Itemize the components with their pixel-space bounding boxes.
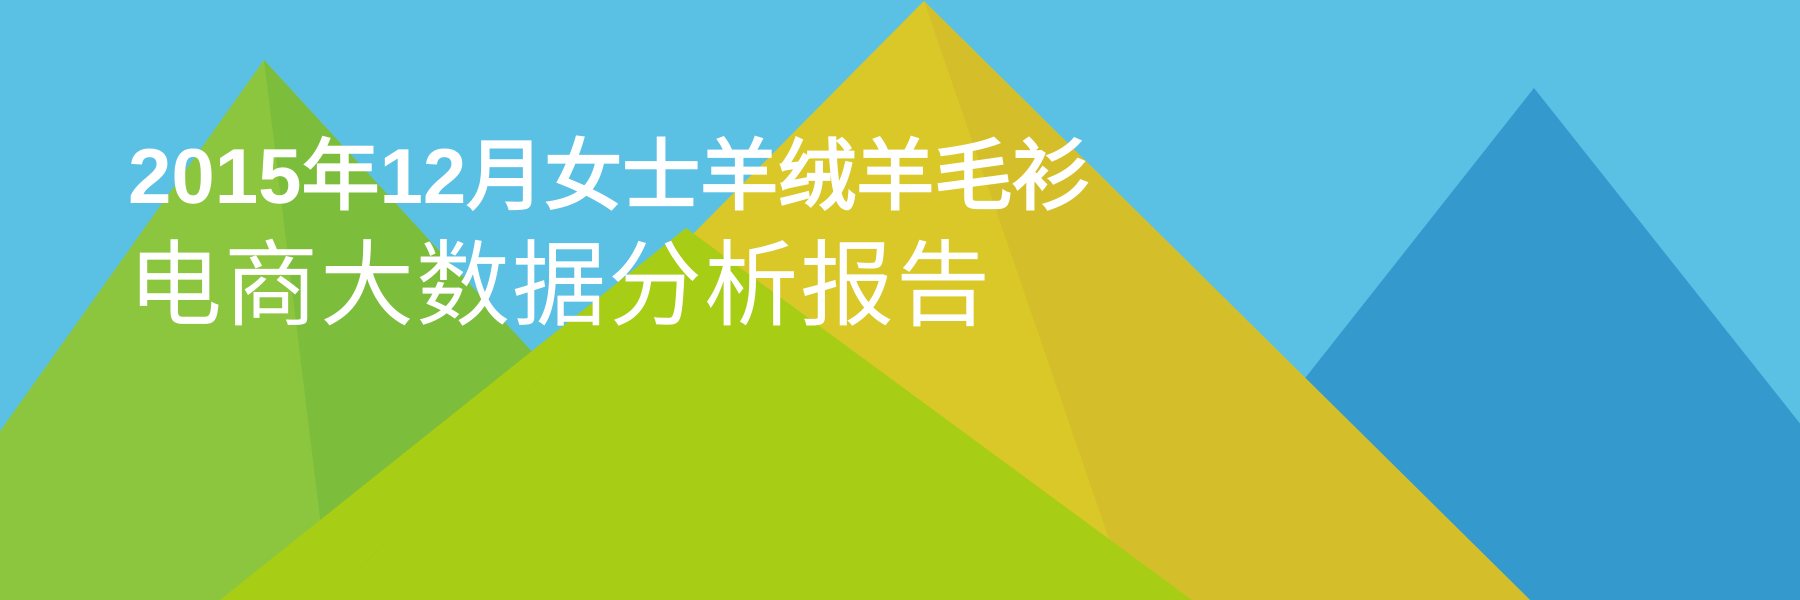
poster-canvas: 2015年12月女士羊绒羊毛衫 电商大数据分析报告 [0, 0, 1800, 600]
geometric-background [0, 0, 1800, 600]
